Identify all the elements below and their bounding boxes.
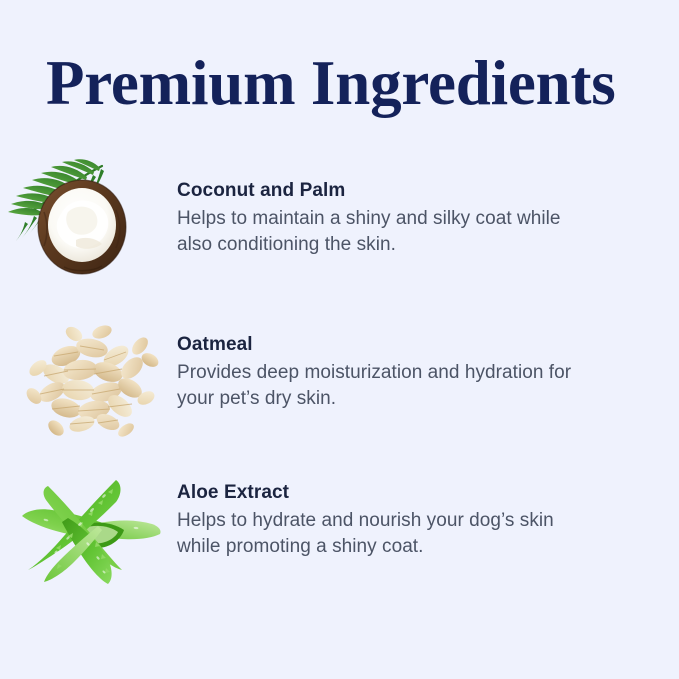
ingredient-text-block: Aloe Extract Helps to hydrate and nouris…	[177, 480, 647, 560]
ingredient-description: Helps to hydrate and nourish your dog’s …	[177, 508, 577, 560]
ingredient-name: Oatmeal	[177, 332, 647, 357]
ingredient-text-block: Oatmeal Provides deep moisturization and…	[177, 332, 647, 412]
ingredient-name: Aloe Extract	[177, 480, 647, 505]
ingredient-text-block: Coconut and Palm Helps to maintain a shi…	[177, 178, 647, 258]
list-item: Aloe Extract Helps to hydrate and nouris…	[0, 450, 679, 600]
oat-flakes-shape	[24, 323, 161, 439]
oatmeal-image	[22, 316, 164, 440]
ingredient-list: Coconut and Palm Helps to maintain a shi…	[0, 150, 679, 600]
list-item: Coconut and Palm Helps to maintain a shi…	[0, 150, 679, 300]
premium-ingredients-panel: Premium Ingredients	[0, 0, 679, 679]
aloe-extract-image	[12, 470, 164, 592]
coconut-half-shape	[38, 180, 126, 274]
page-title: Premium Ingredients	[46, 52, 616, 115]
list-item: Oatmeal Provides deep moisturization and…	[0, 300, 679, 450]
ingredient-description: Helps to maintain a shiny and silky coat…	[177, 206, 577, 258]
aloe-leaves-shape	[22, 480, 161, 584]
coconut-and-palm-image	[4, 152, 136, 282]
ingredient-description: Provides deep moisturization and hydrati…	[177, 360, 577, 412]
ingredient-name: Coconut and Palm	[177, 178, 647, 203]
